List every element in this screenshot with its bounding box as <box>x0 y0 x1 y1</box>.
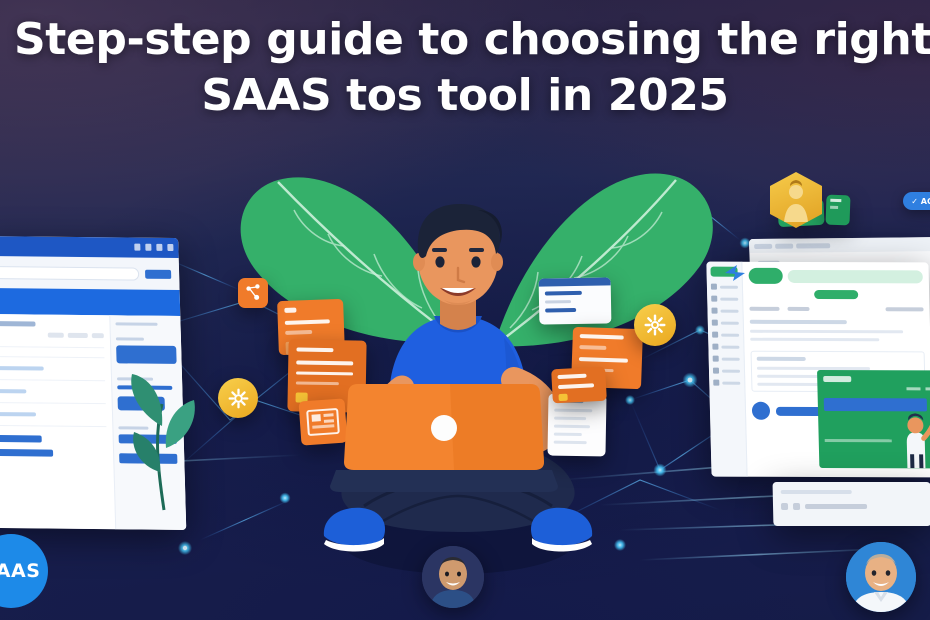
avatar-bottom-center[interactable] <box>422 546 484 608</box>
table-row-highlight <box>0 435 41 442</box>
toolbar-icon[interactable] <box>793 503 800 510</box>
left-panel-ribbon <box>0 288 180 316</box>
divider <box>0 425 107 427</box>
promo-nav <box>925 387 930 390</box>
cta-button[interactable] <box>814 290 858 299</box>
dialog-title <box>545 291 582 296</box>
table-row-highlight <box>0 449 53 457</box>
help-icon <box>713 380 719 386</box>
card-line <box>557 374 587 380</box>
settings-glyph <box>225 385 252 412</box>
browser-tab[interactable] <box>754 243 772 248</box>
green-promo-card <box>817 370 930 468</box>
filter-chip[interactable] <box>48 333 64 338</box>
list-item <box>554 409 592 413</box>
left-panel-header <box>0 236 179 258</box>
banner-title: Step-step guide to choosing the right SA… <box>0 14 930 122</box>
blue-arrow-marker <box>723 262 747 284</box>
table-row <box>0 412 36 416</box>
promo-nav <box>906 387 920 390</box>
gear-glyph <box>641 311 669 339</box>
divider <box>0 402 106 404</box>
sidebar-item-label <box>722 357 740 360</box>
search-input[interactable] <box>0 266 139 281</box>
saas-badge-label: SAAS <box>0 560 40 582</box>
avatar-bottom-right[interactable] <box>846 542 916 612</box>
card-badge <box>558 394 567 401</box>
stat-label <box>787 307 809 311</box>
top-right-cta-button[interactable]: ✓ ACC <box>903 192 930 210</box>
chat-avatar-icon[interactable] <box>752 402 770 420</box>
avatar-face <box>846 542 916 612</box>
pane-label <box>116 337 143 340</box>
left-panel-table <box>0 314 116 529</box>
divider <box>0 356 105 358</box>
stat-label <box>749 307 779 311</box>
table-row <box>0 366 44 371</box>
banner-pill <box>788 269 923 282</box>
brand-pill <box>748 268 782 284</box>
green-mini-card <box>825 195 850 226</box>
title-line-2: SAAS tos tool in 2025 <box>14 70 916 122</box>
table-row <box>0 389 26 393</box>
user-icon[interactable] <box>167 244 173 251</box>
list-item <box>554 425 590 429</box>
folder-icon <box>713 356 719 362</box>
stat-value <box>885 307 923 311</box>
top-right-cta-label: ✓ ACC <box>911 197 930 206</box>
card-line <box>285 319 330 325</box>
promo-logo <box>823 376 851 382</box>
right-bottom-toolbar[interactable] <box>773 482 930 526</box>
promo-footer <box>825 439 892 442</box>
promo-people-illustration <box>890 398 930 468</box>
divider <box>0 379 106 381</box>
browser-tab[interactable] <box>775 243 793 248</box>
card-line <box>296 360 353 365</box>
card-line <box>296 347 333 352</box>
table-title <box>0 321 36 326</box>
title-line-1: Step-step guide to choosing the right <box>14 14 916 66</box>
section-row <box>750 330 903 334</box>
laptop[interactable] <box>330 378 558 498</box>
card-icon <box>284 308 296 313</box>
avatar-face <box>422 546 484 608</box>
white-dialog-top <box>539 277 612 324</box>
card-line <box>285 330 312 335</box>
left-panel-toolbar <box>0 256 180 290</box>
sidebar-item[interactable] <box>713 368 740 374</box>
list-item <box>554 441 587 445</box>
browser-tab-active[interactable] <box>796 243 830 248</box>
sidebar-item-label <box>722 369 740 372</box>
cart-icon[interactable] <box>145 244 151 251</box>
card-line <box>579 357 628 363</box>
dialog-line <box>545 300 571 303</box>
sidebar-item[interactable] <box>713 356 740 362</box>
more-chip[interactable] <box>92 333 104 338</box>
gear-icon <box>713 368 719 374</box>
dialog-line <box>545 308 576 313</box>
left-panel-header-icons[interactable] <box>134 244 173 251</box>
sort-chip[interactable] <box>68 333 88 338</box>
grid-icon[interactable] <box>156 244 162 251</box>
sidebar-item[interactable] <box>713 380 740 386</box>
section-row <box>750 338 879 341</box>
toolbar-label <box>781 490 852 494</box>
list-title <box>757 357 806 361</box>
yellow-settings-icon[interactable] <box>218 378 258 418</box>
bell-icon[interactable] <box>134 244 140 251</box>
banner-canvas: ✓ ACC <box>0 0 930 620</box>
section-title <box>750 320 848 324</box>
divider <box>0 346 105 348</box>
share-glyph <box>242 282 264 304</box>
foreground-plant <box>118 352 204 512</box>
pane-title <box>116 322 158 325</box>
card-line <box>296 371 353 375</box>
toolbar-icon[interactable] <box>781 503 788 510</box>
orange-card-small <box>551 367 607 404</box>
right-main-dashboard-panel[interactable] <box>706 262 930 478</box>
sidebar-item-label <box>721 345 739 348</box>
toolbar-progress <box>805 504 867 509</box>
primary-action-button[interactable] <box>145 269 171 278</box>
list-item <box>554 417 586 421</box>
yellow-gear-icon[interactable] <box>634 304 676 346</box>
orange-share-icon[interactable] <box>238 278 268 308</box>
card-line <box>579 345 606 350</box>
sidebar-item-label <box>722 381 740 384</box>
card-line <box>558 383 594 389</box>
card-line <box>580 334 624 340</box>
